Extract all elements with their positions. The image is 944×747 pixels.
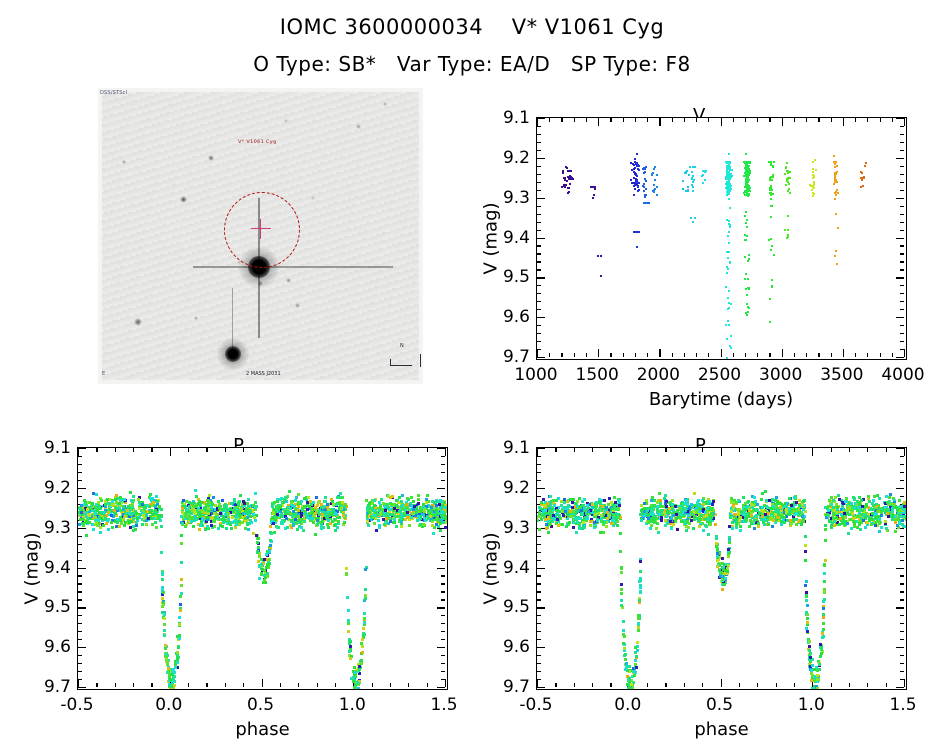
target-name-annotation: V* V1061 Cyg [238, 139, 276, 144]
y-tick-label: 9.2 [478, 478, 530, 498]
phase-omc-x-axis-label: phase [200, 719, 325, 740]
field-star [208, 155, 214, 161]
page-subtitle: O Type: SB* Var Type: EA/D SP Type: F8 [0, 52, 944, 76]
field-star [383, 102, 387, 106]
page-title: IOMC 3600000034 V* V1061 Cyg [0, 15, 944, 39]
scale-bar-end-tick [390, 359, 391, 366]
lightcurve-axis-ticks [537, 118, 906, 359]
field-star [311, 196, 315, 200]
scale-bar [390, 365, 412, 366]
y-tick-label: 9.7 [478, 677, 530, 697]
x-tick-label: -0.5 [506, 695, 566, 715]
y-tick-label: 9.3 [478, 188, 530, 208]
y-tick-label: 9.6 [478, 637, 530, 657]
x-tick-label: 0.0 [139, 695, 199, 715]
field-star [180, 196, 187, 203]
x-tick-label: 2500 [690, 365, 750, 385]
survey-label: DSS/STScI [100, 90, 127, 96]
field-star [134, 318, 142, 326]
x-tick-label: 1.0 [322, 695, 382, 715]
x-tick-label: 3000 [751, 365, 811, 385]
y-tick-label: 9.2 [478, 148, 530, 168]
field-star [258, 281, 263, 286]
x-tick-label: 1.0 [781, 695, 841, 715]
y-tick-label: 9.3 [19, 518, 71, 538]
field-star [237, 260, 241, 264]
phase-vsx-x-axis-label: phase [659, 719, 784, 740]
y-tick-label: 9.1 [478, 108, 530, 128]
x-tick-label: 1000 [506, 365, 566, 385]
orientation-label: E [102, 371, 105, 377]
iomc-figure: IOMC 3600000034 V* V1061 Cyg O Type: SB*… [0, 0, 944, 747]
dss-finder-chart: V* V1061 Cyg DSS/STScI 2 MASS J2031 E N [98, 88, 423, 384]
diffraction-spike-horizontal [193, 266, 393, 268]
y-tick-label: 9.4 [19, 558, 71, 578]
y-tick-label: 9.7 [478, 347, 530, 367]
x-tick-label: 3500 [812, 365, 872, 385]
y-tick-label: 9.5 [478, 597, 530, 617]
x-tick-label: 4000 [873, 365, 933, 385]
secondary-star-core [225, 346, 241, 362]
field-star [284, 119, 288, 123]
field-star [194, 316, 198, 320]
field-star [122, 160, 126, 164]
x-tick-label: 0.5 [231, 695, 291, 715]
y-tick-label: 9.5 [478, 267, 530, 287]
lightcurve-plot-area [536, 117, 907, 360]
y-tick-label: 9.4 [478, 228, 530, 248]
y-tick-label: 9.2 [19, 478, 71, 498]
y-tick-label: 9.6 [478, 307, 530, 327]
x-tick-label: 1.5 [414, 695, 474, 715]
y-tick-label: 9.7 [19, 677, 71, 697]
phase-vsx-plot-area [536, 447, 907, 690]
crosshair-vertical [260, 219, 261, 239]
phase-omc-plot-area [77, 447, 448, 690]
y-tick-label: 9.6 [19, 637, 71, 657]
y-tick-label: 9.3 [478, 518, 530, 538]
x-tick-label: 1.5 [873, 695, 933, 715]
north-label: N [400, 343, 404, 349]
field-star [356, 124, 361, 129]
x-tick-label: 1500 [567, 365, 627, 385]
field-star [295, 303, 300, 308]
y-tick-label: 9.1 [478, 438, 530, 458]
lightcurve-x-axis-label: Barytime (days) [596, 389, 846, 410]
scale-bar-tick-right [420, 354, 421, 367]
x-tick-label: 0.0 [598, 695, 658, 715]
x-tick-label: 2000 [628, 365, 688, 385]
y-tick-label: 9.1 [19, 438, 71, 458]
field-star [286, 278, 291, 283]
aperture-circle-marker [224, 192, 300, 268]
catalog-label: 2 MASS J2031 [246, 371, 281, 377]
y-tick-label: 9.4 [478, 558, 530, 578]
y-tick-label: 9.5 [19, 597, 71, 617]
x-tick-label: -0.5 [47, 695, 107, 715]
x-tick-label: 0.5 [690, 695, 750, 715]
